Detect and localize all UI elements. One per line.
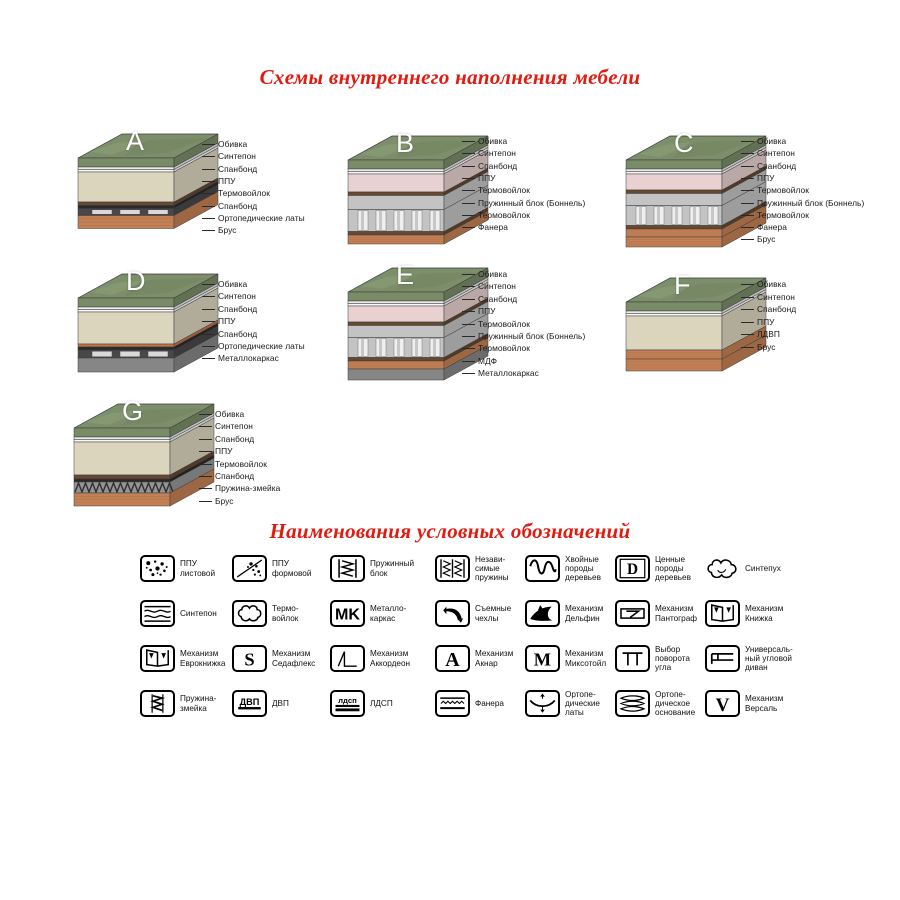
legend-item[interactable]: Выбор поворота угла [615, 645, 690, 673]
removable-covers-icon [435, 600, 470, 627]
leader-line [199, 414, 212, 415]
layer-label: Пружинный блок (Боннель) [478, 199, 585, 208]
leader-line [462, 203, 475, 204]
legend-item-label: Ортопе- дические латы [565, 690, 600, 718]
dvp-icon: ДВП [232, 690, 267, 717]
svg-text:лдсп: лдсп [338, 696, 357, 705]
orthopedic-slats-icon [525, 690, 560, 717]
legend-item-label: Механизм Седафлекс [272, 649, 315, 667]
leader-line [462, 336, 475, 337]
leader-line [741, 227, 754, 228]
layer-label: ППУ [218, 177, 236, 186]
legend-item[interactable]: Синтепон [140, 600, 217, 627]
layer-label: Синтепон [215, 422, 253, 431]
dolphin-mechanism-icon [525, 600, 560, 627]
layer-label: Пружина-змейка [215, 484, 280, 493]
orthopedic-base-icon [615, 690, 650, 717]
scheme-f-illustration [622, 272, 768, 408]
layer-label: Ортопедические латы [218, 342, 305, 351]
layer-label: Обивка [478, 270, 507, 279]
legend-item[interactable]: ДВПДВП [232, 690, 289, 717]
layer-label: Термовойлок [757, 186, 809, 195]
layer-label: ППУ [478, 174, 496, 183]
layer-label: ЛДВП [757, 330, 780, 339]
layer-label: Фанера [478, 223, 508, 232]
legend-item-label: Механизм Версаль [745, 694, 783, 712]
layer-label: Спанбонд [478, 162, 517, 171]
legend-item[interactable]: Съемные чехлы [435, 600, 511, 627]
ldsp-icon: лдсп [330, 690, 365, 717]
leader-line [462, 299, 475, 300]
leader-line [462, 141, 475, 142]
legend-item-label: Синтепух [745, 564, 781, 573]
legend-item-label: Механизм Акнар [475, 649, 513, 667]
leader-line [202, 321, 215, 322]
legend-item[interactable]: VМеханизм Версаль [705, 690, 783, 717]
accordion-mechanism-icon [330, 645, 365, 672]
leader-line [462, 373, 475, 374]
corner-choice-icon [615, 645, 650, 672]
svg-text:MK: MK [335, 606, 360, 624]
legend-item[interactable]: лдспЛДСП [330, 690, 393, 717]
legend-item-label: Универсаль- ный угловой диван [745, 645, 793, 673]
legend-item-label: Механизм Еврокнижка [180, 649, 225, 667]
layer-label: Обивка [757, 280, 786, 289]
layer-label: Ортопедические латы [218, 214, 305, 223]
leader-line [741, 297, 754, 298]
layer-label: Обивка [757, 137, 786, 146]
legend-row: ППУ листовойППУ формовойПружинный блокНе… [140, 549, 780, 594]
layer-label: Металлокаркас [478, 369, 539, 378]
legend-item-label: Пружинный блок [370, 559, 414, 577]
legend-item[interactable]: ППУ формовой [232, 555, 311, 582]
layer-label: Синтепон [478, 149, 516, 158]
layer-label: Синтепон [218, 292, 256, 301]
leader-line [202, 358, 215, 359]
leader-line [462, 286, 475, 287]
legend-item-label: Съемные чехлы [475, 604, 511, 622]
svg-text:V: V [716, 695, 730, 715]
legend-item[interactable]: Термо- войлок [232, 600, 299, 627]
layer-label: МДФ [478, 357, 497, 366]
layer-label: Фанера [757, 223, 787, 232]
layer-label: Обивка [478, 137, 507, 146]
leader-line [202, 169, 215, 170]
legend-item[interactable]: Фанера [435, 690, 504, 717]
leader-line [741, 153, 754, 154]
layer-label: Брус [218, 226, 237, 235]
leader-line [202, 309, 215, 310]
legend-item-label: Фанера [475, 699, 504, 708]
precious-wood-icon: D [615, 555, 650, 582]
leader-line [199, 464, 212, 465]
conifer-wood-icon [525, 555, 560, 582]
independent-springs-icon [435, 555, 470, 582]
legend-item[interactable]: Механизм Дельфин [525, 600, 603, 627]
eurobook-mechanism-icon [140, 645, 175, 672]
layer-label: Термовойлок [478, 344, 530, 353]
leader-line [741, 239, 754, 240]
svg-text:M: M [534, 649, 551, 669]
legend-row: СинтепонТермо- войлокMKМеталло- каркасСъ… [140, 594, 780, 639]
legend-item-label: ППУ формовой [272, 559, 311, 577]
leader-line [462, 348, 475, 349]
pantograph-mechanism-icon [615, 600, 650, 627]
layer-label: Обивка [215, 410, 244, 419]
leader-line [202, 156, 215, 157]
layer-label: ППУ [218, 317, 236, 326]
page-title-schemes: Схемы внутреннего наполнения мебели [0, 65, 900, 90]
svg-text:S: S [244, 649, 254, 669]
svg-text:D: D [627, 561, 638, 578]
legend-item[interactable]: Хвойные породы деревьев [525, 555, 601, 583]
layer-label: Брус [757, 343, 776, 352]
leader-line [462, 324, 475, 325]
legend-item-label: Синтепон [180, 609, 217, 618]
layer-label: Спанбонд [215, 435, 254, 444]
layer-label: Термовойлок [757, 211, 809, 220]
layer-label: Спанбонд [478, 295, 517, 304]
universal-corner-sofa-icon [705, 645, 740, 672]
leader-line [741, 334, 754, 335]
layer-label: Спанбонд [218, 202, 257, 211]
leader-line [462, 153, 475, 154]
sinteppuh-icon [705, 555, 740, 582]
leader-line [741, 190, 754, 191]
layer-label: Спанбонд [218, 305, 257, 314]
ppu-sheet-icon [140, 555, 175, 582]
leader-line [462, 166, 475, 167]
leader-line [741, 322, 754, 323]
layer-label: Спанбонд [218, 330, 257, 339]
book-mechanism-icon [705, 600, 740, 627]
layer-label: Брус [757, 235, 776, 244]
thermofelt-icon [232, 600, 267, 627]
layer-label: Пружинный блок (Боннель) [757, 199, 864, 208]
legend-item-label: Механизм Книжка [745, 604, 783, 622]
layer-label: Металлокаркас [218, 354, 279, 363]
layer-label: ППУ [757, 318, 775, 327]
leader-line [199, 451, 212, 452]
leader-line [462, 274, 475, 275]
layer-label: Термовойлок [478, 320, 530, 329]
legend-row: Пружина- змейкаДВПДВПлдспЛДСПФанераОртоп… [140, 684, 780, 729]
leader-line [202, 334, 215, 335]
layer-label: Спанбонд [757, 162, 796, 171]
leader-line [202, 193, 215, 194]
layer-label: ППУ [478, 307, 496, 316]
legend-item[interactable]: AМеханизм Акнар [435, 645, 513, 672]
legend-item-label: Механизм Пантограф [655, 604, 697, 622]
snake-spring-icon [140, 690, 175, 717]
leader-line [462, 190, 475, 191]
legend-item-label: Незави- симые пружины [475, 555, 509, 583]
leader-line [462, 227, 475, 228]
leader-line [741, 309, 754, 310]
legend-item-label: Ортопе- дическое основание [655, 690, 695, 718]
leader-line [202, 284, 215, 285]
legend-item[interactable]: ППУ листовой [140, 555, 215, 582]
legend-item-label: Ценные породы деревьев [655, 555, 691, 583]
legend-item[interactable]: Механизм Аккордеон [330, 645, 410, 672]
layer-label: Обивка [218, 280, 247, 289]
leader-line [462, 178, 475, 179]
legend-item[interactable]: Механизм Пантограф [615, 600, 697, 627]
scheme-g-illustration [70, 398, 216, 543]
layer-label: Обивка [218, 140, 247, 149]
layer-label: Синтепон [218, 152, 256, 161]
plywood-icon [435, 690, 470, 717]
layer-label: Пружинный блок (Боннель) [478, 332, 585, 341]
legend-item[interactable]: Универсаль- ный угловой диван [705, 645, 793, 673]
leader-line [202, 181, 215, 182]
aknar-mechanism-icon: A [435, 645, 470, 672]
legend-item[interactable]: Пружинный блок [330, 555, 414, 582]
leader-line [202, 296, 215, 297]
ppu-molded-icon [232, 555, 267, 582]
legend-item-label: Термо- войлок [272, 604, 299, 622]
leader-line [462, 311, 475, 312]
leader-line [741, 178, 754, 179]
leader-line [202, 144, 215, 145]
scheme-a-illustration [74, 128, 220, 266]
legend-item-label: Механизм Аккордеон [370, 649, 410, 667]
legend-item[interactable]: Пружина- змейка [140, 690, 216, 717]
leader-line [741, 166, 754, 167]
leader-line [741, 347, 754, 348]
layer-label: ППУ [215, 447, 233, 456]
spring-block-icon [330, 555, 365, 582]
leader-line [741, 203, 754, 204]
legend-item[interactable]: DЦенные породы деревьев [615, 555, 691, 583]
layer-label: Спанбонд [218, 165, 257, 174]
legend-item-label: Механизм Миксотойл [565, 649, 606, 667]
leader-line [199, 476, 212, 477]
legend-item[interactable]: Ортопе- дическое основание [615, 690, 695, 718]
leader-line [199, 488, 212, 489]
svg-text:ДВП: ДВП [240, 697, 260, 707]
legend-item[interactable]: Механизм Еврокнижка [140, 645, 225, 672]
layer-label: Синтепон [757, 293, 795, 302]
sedaflex-mechanism-icon: S [232, 645, 267, 672]
legend-item[interactable]: MМеханизм Миксотойл [525, 645, 606, 672]
layer-label: Брус [215, 497, 234, 506]
layer-label: Синтепон [757, 149, 795, 158]
versal-mechanism-icon: V [705, 690, 740, 717]
legend-row: Механизм ЕврокнижкаSМеханизм СедафлексМе… [140, 639, 780, 684]
legend-item[interactable]: Механизм Книжка [705, 600, 783, 627]
layer-label: Синтепон [478, 282, 516, 291]
legend-item[interactable]: SМеханизм Седафлекс [232, 645, 315, 672]
scheme-d-illustration [74, 268, 220, 409]
legend-item-label: Механизм Дельфин [565, 604, 603, 622]
legend-item-label: Хвойные породы деревьев [565, 555, 601, 583]
leader-line [741, 215, 754, 216]
layer-label: ППУ [757, 174, 775, 183]
metal-frame-icon: MK [330, 600, 365, 627]
legend-item-label: Пружина- змейка [180, 694, 216, 712]
svg-text:A: A [445, 649, 460, 670]
layer-label: Спанбонд [215, 472, 254, 481]
legend-item[interactable]: Синтепух [705, 555, 781, 582]
layer-label: Термовойлок [215, 460, 267, 469]
layer-label: Термовойлок [478, 186, 530, 195]
scheme-e-illustration [344, 262, 490, 417]
legend-item-label: Металло- каркас [370, 604, 406, 622]
layer-label: Термовойлок [218, 189, 270, 198]
leader-line [741, 284, 754, 285]
legend-item-label: ДВП [272, 699, 289, 708]
leader-line [741, 141, 754, 142]
legend-grid: ППУ листовойППУ формовойПружинный блокНе… [140, 549, 780, 729]
legend-item-label: Выбор поворота угла [655, 645, 690, 673]
leader-line [202, 218, 215, 219]
leader-line [202, 206, 215, 207]
layer-label: Спанбонд [757, 305, 796, 314]
leader-line [199, 439, 212, 440]
leader-line [202, 346, 215, 347]
legend-item[interactable]: Незави- симые пружины [435, 555, 509, 583]
leader-line [199, 501, 212, 502]
leader-line [199, 426, 212, 427]
legend-item-label: ППУ листовой [180, 559, 215, 577]
mixotoil-mechanism-icon: M [525, 645, 560, 672]
legend-item-label: ЛДСП [370, 699, 393, 708]
leader-line [202, 230, 215, 231]
leader-line [462, 361, 475, 362]
legend-item[interactable]: Ортопе- дические латы [525, 690, 600, 718]
layer-label: Термовойлок [478, 211, 530, 220]
sintepon-icon [140, 600, 175, 627]
legend-item[interactable]: MKМеталло- каркас [330, 600, 406, 627]
leader-line [462, 215, 475, 216]
